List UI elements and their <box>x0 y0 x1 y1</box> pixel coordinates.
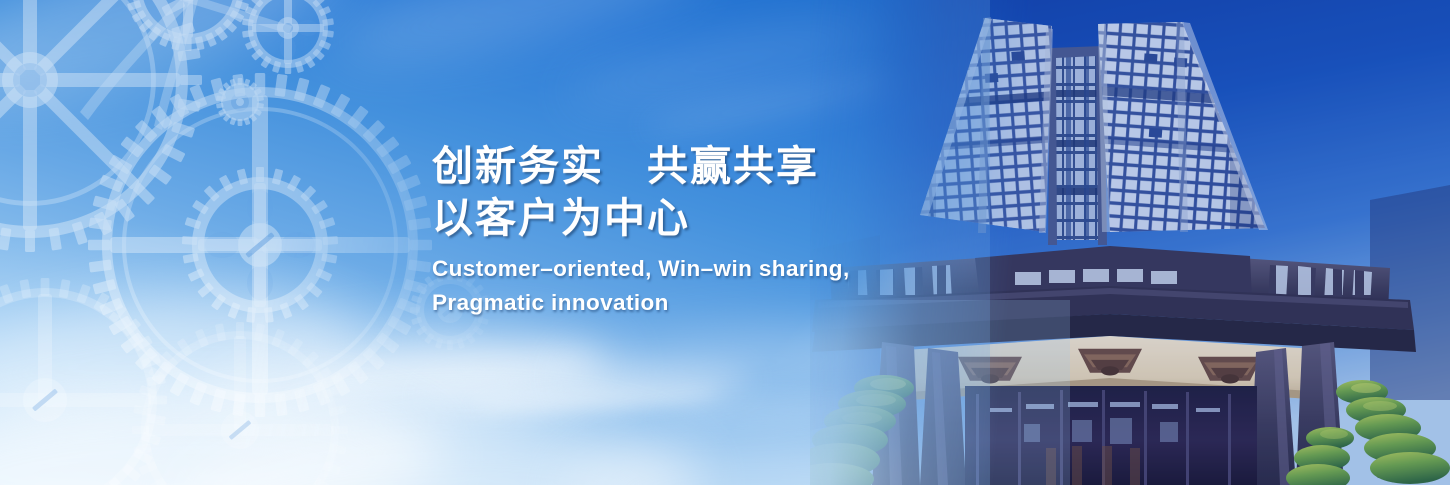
headline-line-2: 以客户为中心 <box>432 192 850 244</box>
subtitle-line-1: Customer–oriented, Win–win sharing, <box>432 252 850 286</box>
subtitle-line-2: Pragmatic innovation <box>432 286 850 320</box>
headline-line-1: 创新务实 共赢共享 <box>432 140 850 192</box>
hero-banner: 创新务实 共赢共享 以客户为中心 Customer–oriented, Win–… <box>0 0 1450 485</box>
headline-block: 创新务实 共赢共享 以客户为中心 Customer–oriented, Win–… <box>432 140 850 320</box>
skyscraper-photo <box>810 0 1450 485</box>
